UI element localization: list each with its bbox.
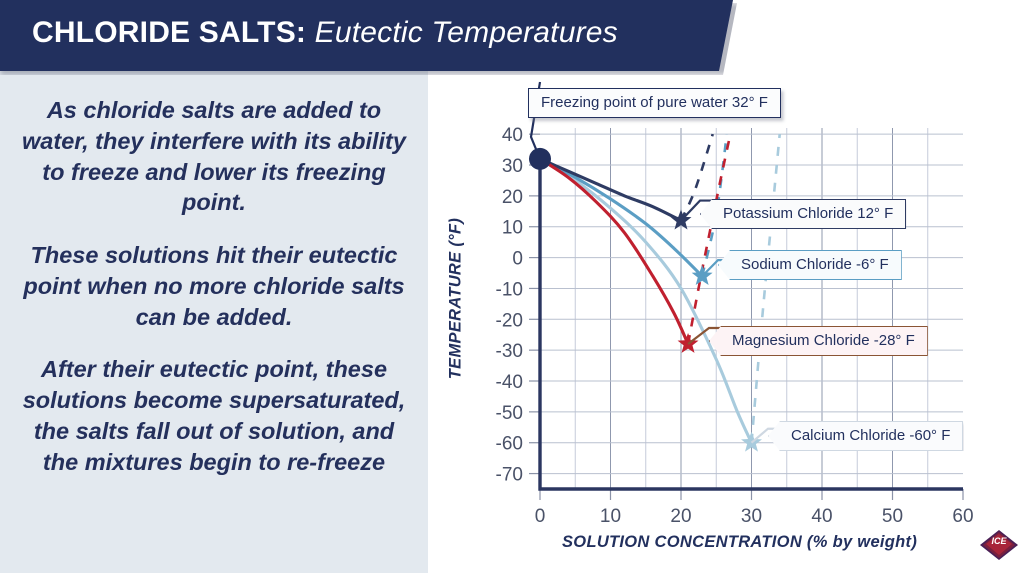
callout-pure-water: Freezing point of pure water 32° F bbox=[528, 88, 781, 118]
svg-text:30: 30 bbox=[741, 506, 762, 527]
svg-text:50: 50 bbox=[882, 506, 903, 527]
page-title-italic: Eutectic Temperatures bbox=[306, 16, 618, 49]
svg-text:20: 20 bbox=[670, 506, 691, 527]
svg-text:40: 40 bbox=[502, 125, 523, 146]
svg-text:20: 20 bbox=[502, 187, 523, 208]
page-title-bold: CHLORIDE SALTS: bbox=[32, 16, 306, 49]
svg-text:-50: -50 bbox=[496, 403, 523, 424]
description-paragraph-3: After their eutectic point, these soluti… bbox=[18, 354, 410, 477]
callout-calcium-chloride: Calcium Chloride -60° F bbox=[768, 421, 963, 451]
svg-text:60: 60 bbox=[952, 506, 973, 527]
svg-text:-70: -70 bbox=[496, 465, 523, 486]
x-axis-title: SOLUTION CONCENTRATION (% by weight) bbox=[562, 533, 917, 552]
page-title: CHLORIDE SALTS: Eutectic Temperatures bbox=[32, 16, 618, 50]
svg-text:-20: -20 bbox=[496, 310, 523, 331]
svg-text:0: 0 bbox=[535, 506, 546, 527]
description-paragraph-2: These solutions hit their eutectic point… bbox=[18, 240, 410, 332]
pure-water-marker bbox=[529, 148, 551, 170]
description-panel: As chloride salts are added to water, th… bbox=[0, 71, 428, 573]
svg-text:-40: -40 bbox=[496, 372, 523, 393]
curve-magnesium-chloride bbox=[540, 159, 688, 344]
description-paragraph-1: As chloride salts are added to water, th… bbox=[18, 95, 410, 218]
svg-text:-30: -30 bbox=[496, 341, 523, 362]
svg-text:0: 0 bbox=[512, 249, 523, 270]
y-axis-title: TEMPERATURE (°F) bbox=[447, 209, 466, 389]
svg-text:40: 40 bbox=[811, 506, 832, 527]
svg-text:-60: -60 bbox=[496, 434, 523, 455]
ice-logo-text: ICE bbox=[991, 536, 1007, 546]
callout-potassium-chloride: Potassium Chloride 12° F bbox=[700, 199, 906, 229]
chart-container: 403020100-10-20-30-40-50-60-700102030405… bbox=[428, 71, 1032, 573]
svg-text:10: 10 bbox=[502, 218, 523, 239]
ice-logo: ICE bbox=[978, 528, 1020, 562]
svg-text:30: 30 bbox=[502, 156, 523, 177]
callout-sodium-chloride: Sodium Chloride -6° F bbox=[718, 250, 902, 280]
svg-text:-10: -10 bbox=[496, 279, 523, 300]
eutectic-temperature-chart: 403020100-10-20-30-40-50-60-700102030405… bbox=[428, 71, 1032, 573]
svg-text:10: 10 bbox=[600, 506, 621, 527]
callout-magnesium-chloride: Magnesium Chloride -28° F bbox=[709, 326, 928, 356]
